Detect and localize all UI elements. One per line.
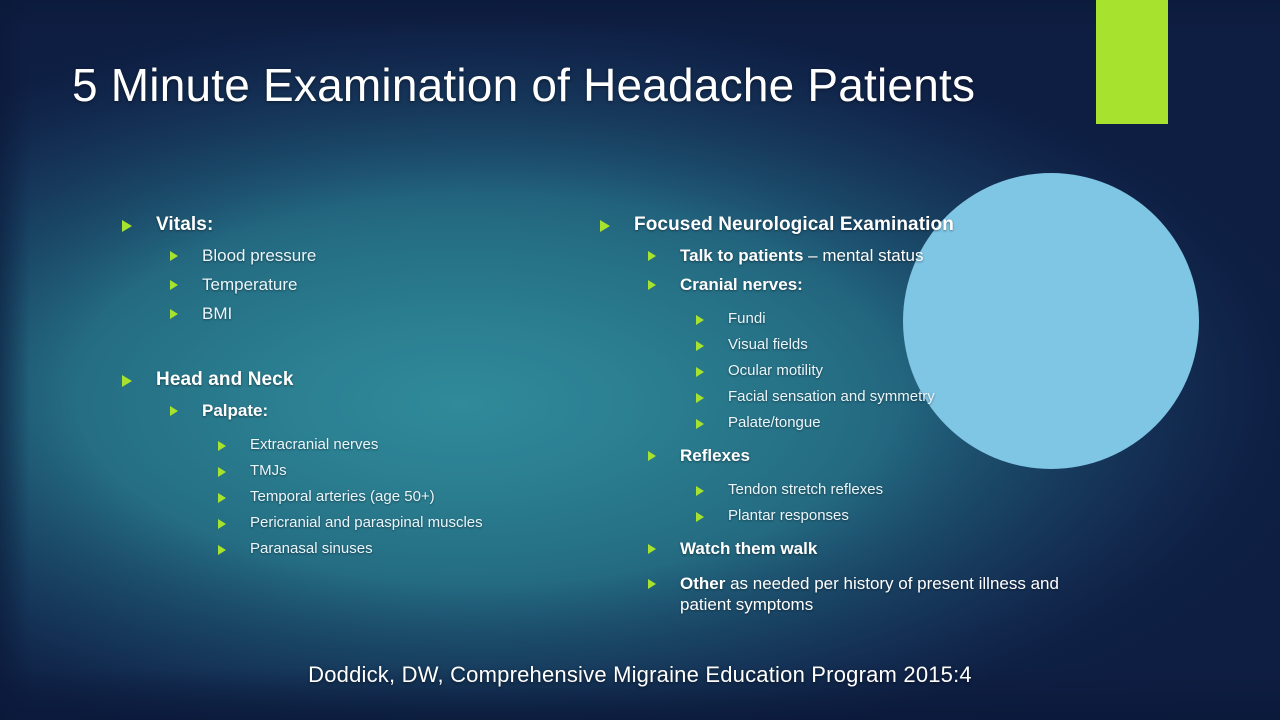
source-citation: Doddick, DW, Comprehensive Migraine Educ… <box>0 662 1280 688</box>
triangle-bullet-icon <box>170 280 178 290</box>
bullet-bmi: BMI <box>112 304 592 324</box>
right-content-column: Focused Neurological Examination Talk to… <box>590 214 1060 624</box>
bullet-ocular-motility: Ocular motility <box>590 362 1060 379</box>
bullet-temperature: Temperature <box>112 275 592 295</box>
bullet-label: Temporal arteries (age 50+) <box>250 488 435 505</box>
bullet-label: Paranasal sinuses <box>250 540 373 557</box>
bullet-tendon-stretch-reflexes: Tendon stretch reflexes <box>590 481 1060 498</box>
triangle-bullet-icon <box>696 341 704 351</box>
triangle-bullet-icon <box>696 367 704 377</box>
bullet-label: Palate/tongue <box>728 414 821 431</box>
triangle-bullet-icon <box>696 512 704 522</box>
bullet-label: Tendon stretch reflexes <box>728 481 883 498</box>
triangle-bullet-icon <box>170 406 178 416</box>
slide-content: 5 Minute Examination of Headache Patient… <box>0 0 1280 720</box>
bullet-label: Watch them walk <box>680 539 817 558</box>
triangle-bullet-icon <box>122 375 132 387</box>
bullet-visual-fields: Visual fields <box>590 336 1060 353</box>
bullet-reflexes-heading: Reflexes <box>590 446 1060 466</box>
bullet-pericranial-muscles: Pericranial and paraspinal muscles <box>112 514 592 531</box>
section-spacer <box>112 333 592 369</box>
triangle-bullet-icon <box>648 451 656 461</box>
bullet-tmjs: TMJs <box>112 462 592 479</box>
triangle-bullet-icon <box>122 220 132 232</box>
bullet-label: Temperature <box>202 275 297 294</box>
bullet-plantar-responses: Plantar responses <box>590 507 1060 524</box>
bullet-label: Blood pressure <box>202 246 316 265</box>
triangle-bullet-icon <box>218 519 226 529</box>
bullet-paranasal-sinuses: Paranasal sinuses <box>112 540 592 557</box>
bullet-label: BMI <box>202 304 232 323</box>
triangle-bullet-icon <box>696 419 704 429</box>
triangle-bullet-icon <box>696 393 704 403</box>
bullet-watch-them-walk: Watch them walk <box>590 539 1060 559</box>
bullet-vitals-heading: Vitals: <box>112 214 592 236</box>
triangle-bullet-icon <box>218 493 226 503</box>
triangle-bullet-icon <box>648 280 656 290</box>
triangle-bullet-icon <box>648 251 656 261</box>
bullet-label: Ocular motility <box>728 362 823 379</box>
bullet-label: Palpate: <box>202 401 268 420</box>
bullet-label: Extracranial nerves <box>250 436 378 453</box>
bullet-label: Cranial nerves: <box>680 275 803 294</box>
presentation-slide: 5 Minute Examination of Headache Patient… <box>0 0 1280 720</box>
bullet-label: TMJs <box>250 462 287 479</box>
left-content-column: Vitals: Blood pressure Temperature BMI H… <box>112 214 592 566</box>
triangle-bullet-icon <box>648 544 656 554</box>
triangle-bullet-icon <box>218 545 226 555</box>
bullet-fundi: Fundi <box>590 310 1060 327</box>
bullet-blood-pressure: Blood pressure <box>112 246 592 266</box>
bullet-label-bold: Other <box>680 574 725 593</box>
triangle-bullet-icon <box>218 441 226 451</box>
triangle-bullet-icon <box>696 315 704 325</box>
triangle-bullet-icon <box>170 251 178 261</box>
triangle-bullet-icon <box>600 220 610 232</box>
bullet-label: Reflexes <box>680 446 750 465</box>
bullet-other-as-needed: Other as needed per history of present i… <box>590 574 1060 615</box>
bullet-label: Vitals: <box>156 214 213 235</box>
slide-title: 5 Minute Examination of Headache Patient… <box>72 52 1062 120</box>
bullet-palpate-heading: Palpate: <box>112 401 592 421</box>
bullet-label: Facial sensation and symmetry <box>728 388 935 405</box>
bullet-label-rest: – mental status <box>803 246 923 265</box>
bullet-temporal-arteries: Temporal arteries (age 50+) <box>112 488 592 505</box>
triangle-bullet-icon <box>696 486 704 496</box>
triangle-bullet-icon <box>218 467 226 477</box>
bullet-label: Visual fields <box>728 336 808 353</box>
triangle-bullet-icon <box>170 309 178 319</box>
bullet-label-rest: as needed per history of present illness… <box>680 574 1059 614</box>
bullet-head-and-neck-heading: Head and Neck <box>112 369 592 391</box>
triangle-bullet-icon <box>648 579 656 589</box>
bullet-label-bold: Talk to patients <box>680 246 803 265</box>
bullet-label: Head and Neck <box>156 369 294 390</box>
bullet-palate-tongue: Palate/tongue <box>590 414 1060 431</box>
bullet-extracranial-nerves: Extracranial nerves <box>112 436 592 453</box>
bullet-label: Pericranial and paraspinal muscles <box>250 514 483 531</box>
bullet-talk-to-patients: Talk to patients – mental status <box>590 246 1060 266</box>
bullet-label: Fundi <box>728 310 766 327</box>
bullet-cranial-nerves-heading: Cranial nerves: <box>590 275 1060 295</box>
bullet-facial-sensation: Facial sensation and symmetry <box>590 388 1060 405</box>
bullet-label: Plantar responses <box>728 507 849 524</box>
bullet-label: Focused Neurological Examination <box>634 214 954 235</box>
bullet-focused-neuro-exam-heading: Focused Neurological Examination <box>590 214 1060 236</box>
